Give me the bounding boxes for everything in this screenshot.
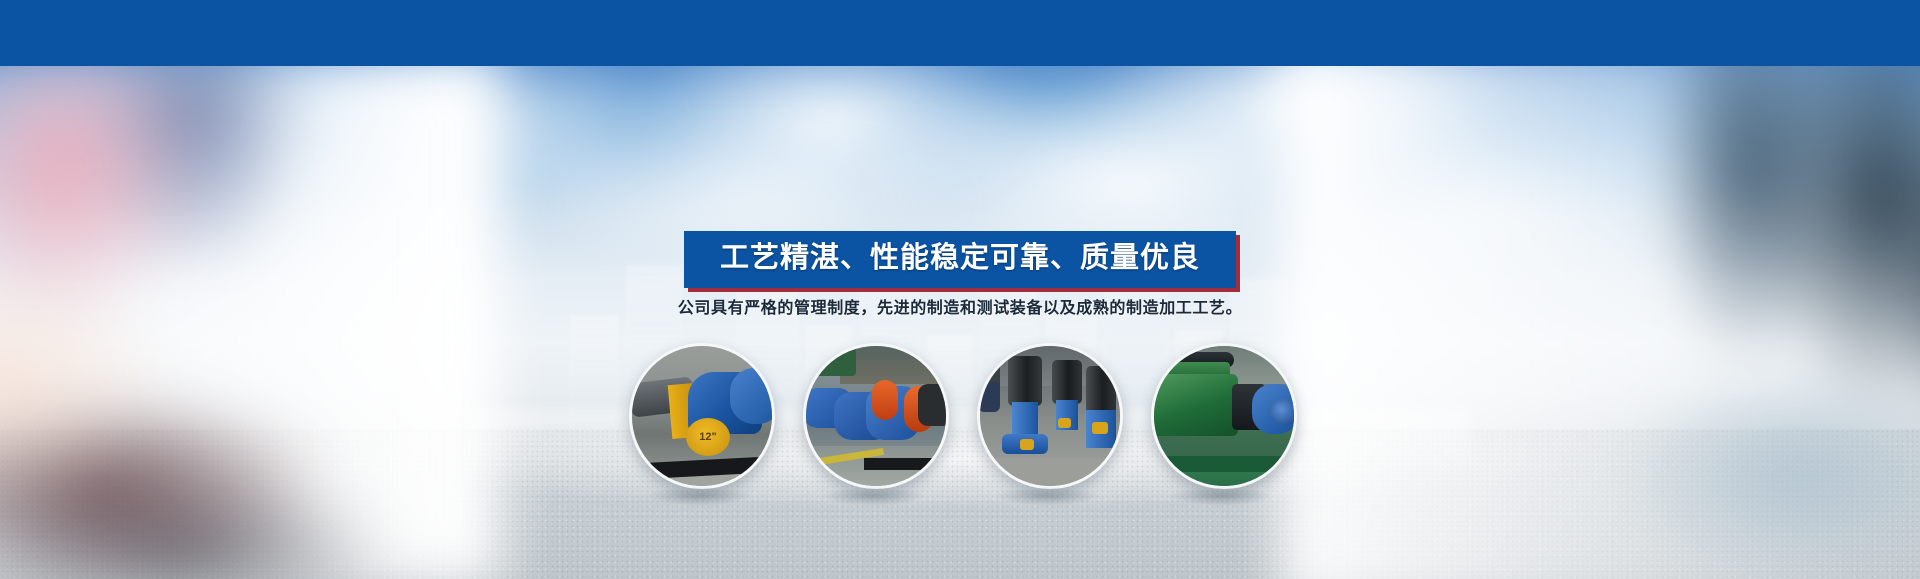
product-photo-4[interactable] xyxy=(1151,343,1297,489)
slurry-pump-row-photo xyxy=(803,343,949,489)
subtitle-area: 公司具有严格的管理制度，先进的制造和测试装备以及成熟的制造加工工艺。 xyxy=(0,294,1920,318)
drop-shadow xyxy=(1169,487,1273,505)
diesel-engine-pump-photo xyxy=(1151,343,1297,489)
drop-shadow xyxy=(821,487,925,505)
split-case-pump-photo: 12" xyxy=(629,343,775,489)
headline-area: 工艺精湛、性能稳定可靠、质量优良 xyxy=(0,231,1920,288)
gallery-item[interactable] xyxy=(803,343,943,489)
pump-size-label: 12" xyxy=(686,431,730,443)
drop-shadow xyxy=(647,487,751,505)
product-photo-2[interactable] xyxy=(803,343,949,489)
gallery-item[interactable] xyxy=(1151,343,1291,489)
subtitle-text: 公司具有严格的管理制度，先进的制造和测试装备以及成熟的制造加工工艺。 xyxy=(678,294,1242,318)
gallery-item[interactable] xyxy=(977,343,1117,489)
page-root: 工艺精湛、性能稳定可靠、质量优良 公司具有严格的管理制度，先进的制造和测试装备以… xyxy=(0,0,1920,579)
hero-banner: 工艺精湛、性能稳定可靠、质量优良 公司具有严格的管理制度，先进的制造和测试装备以… xyxy=(0,66,1920,579)
gallery-item[interactable]: 12" xyxy=(629,343,769,489)
top-blue-bar xyxy=(0,0,1920,66)
vertical-inline-pump-photo xyxy=(977,343,1123,489)
product-photo-1[interactable]: 12" xyxy=(629,343,775,489)
product-photo-gallery: 12" xyxy=(0,343,1920,513)
product-photo-3[interactable] xyxy=(977,343,1123,489)
headline-text: 工艺精湛、性能稳定可靠、质量优良 xyxy=(720,242,1200,275)
drop-shadow xyxy=(995,487,1099,505)
headline-box: 工艺精湛、性能稳定可靠、质量优良 xyxy=(684,231,1236,288)
pump-size-badge: 12" xyxy=(686,418,730,456)
